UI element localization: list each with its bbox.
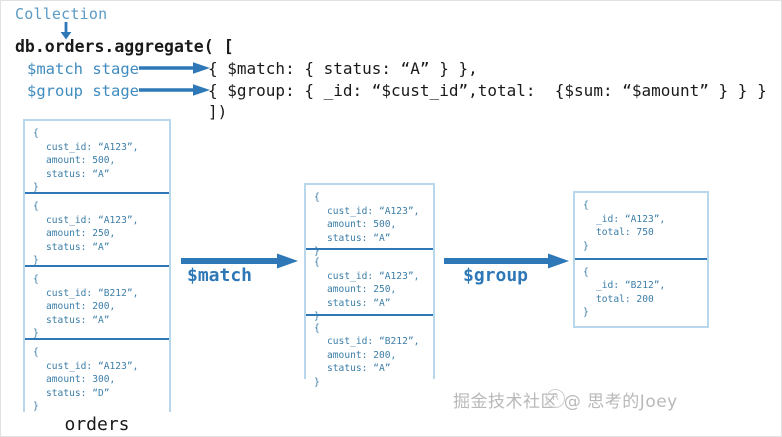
document-field-line: cust_id: “A123”,	[314, 270, 433, 284]
document-field-line: _id: “A123”,	[583, 213, 707, 227]
document-card: {cust_id: “A123”,amount: 250,status: “A”…	[25, 194, 169, 267]
document-field-line: cust_id: “A123”,	[314, 205, 433, 219]
document-field-line: total: 750	[583, 226, 707, 240]
document-field-line: status: “A”	[314, 297, 433, 311]
document-column-match: {cust_id: “A123”,amount: 500,status: “A”…	[304, 183, 435, 379]
registered-mark-icon: R	[546, 389, 565, 408]
document-card: {cust_id: “B212”,amount: 200,status: “A”…	[306, 316, 433, 381]
document-card: {_id: “A123”,total: 750}	[575, 193, 707, 260]
document-field-line: amount: 200,	[314, 349, 433, 363]
document-field-line: amount: 500,	[314, 218, 433, 232]
document-field-line: {	[33, 200, 169, 214]
document-field-line: }	[583, 240, 707, 254]
document-field-line: cust_id: “A123”,	[33, 360, 169, 374]
document-field-line: {	[33, 273, 169, 287]
document-field-line: {	[33, 127, 169, 141]
arrow-right-icon	[139, 83, 211, 97]
document-field-line: amount: 200,	[33, 300, 169, 314]
document-column-orders: {cust_id: “A123”,amount: 500,status: “A”…	[23, 119, 171, 412]
document-card: {cust_id: “A123”,amount: 500,status: “A”…	[306, 185, 433, 250]
document-field-line: cust_id: “A123”,	[33, 214, 169, 228]
document-field-line: _id: “B212”,	[583, 279, 707, 293]
document-field-line: status: “A”	[314, 232, 433, 246]
arrow-right-icon	[139, 61, 211, 75]
pipeline-line-close: ])	[208, 102, 227, 121]
document-field-line: }	[583, 306, 707, 320]
document-field-line: {	[314, 256, 433, 270]
document-field-line: {	[314, 191, 433, 205]
document-field-line: status: “A”	[33, 168, 169, 182]
document-card: {cust_id: “B212”,amount: 200,status: “A”…	[25, 267, 169, 340]
diagram-canvas: Collection db.orders.aggregate( [ $match…	[0, 0, 782, 437]
document-field-line: total: 200	[583, 293, 707, 307]
document-field-line: {	[314, 322, 433, 336]
document-card: {_id: “B212”,total: 200}	[575, 260, 707, 327]
document-field-line: }	[33, 400, 169, 414]
document-field-line: {	[583, 266, 707, 280]
stage-label-match: $match stage	[27, 60, 139, 78]
document-column-group: {_id: “A123”,total: 750}{_id: “B212”,tot…	[573, 191, 709, 328]
document-field-line: {	[33, 346, 169, 360]
stage-label-group: $group stage	[27, 82, 139, 100]
document-field-line: status: “D”	[33, 387, 169, 401]
document-field-line: cust_id: “A123”,	[33, 141, 169, 155]
document-field-line: }	[33, 327, 169, 341]
watermark-text: 掘金技术社区 @ 思考的Joey	[453, 387, 678, 412]
document-field-line: cust_id: “B212”,	[33, 287, 169, 301]
document-field-line: }	[314, 376, 433, 390]
document-field-line: amount: 250,	[314, 283, 433, 297]
document-field-line: status: “A”	[33, 314, 169, 328]
document-card: {cust_id: “A123”,amount: 300,status: “D”…	[25, 340, 169, 413]
document-field-line: cust_id: “B212”,	[314, 335, 433, 349]
document-field-line: amount: 300,	[33, 373, 169, 387]
column-caption-orders: orders	[23, 414, 171, 435]
document-card: {cust_id: “A123”,amount: 500,status: “A”…	[25, 121, 169, 194]
document-field-line: {	[583, 199, 707, 213]
document-field-line: status: “A”	[33, 241, 169, 255]
collection-label: Collection	[15, 5, 107, 23]
pipeline-line-match: { $match: { status: “A” } },	[208, 59, 478, 78]
document-field-line: amount: 500,	[33, 154, 169, 168]
document-field-line: amount: 250,	[33, 227, 169, 241]
stage-arrow-label-group: $group	[463, 265, 528, 286]
pipeline-line-group: { $group: { _id: “$cust_id”,total: {$sum…	[208, 81, 767, 100]
stage-arrow-label-match: $match	[187, 265, 252, 286]
document-card: {cust_id: “A123”,amount: 250,status: “A”…	[306, 250, 433, 315]
document-field-line: }	[33, 254, 169, 268]
document-field-line: }	[33, 181, 169, 195]
aggregate-code-line: db.orders.aggregate( [	[15, 37, 234, 56]
document-field-line: status: “A”	[314, 362, 433, 376]
